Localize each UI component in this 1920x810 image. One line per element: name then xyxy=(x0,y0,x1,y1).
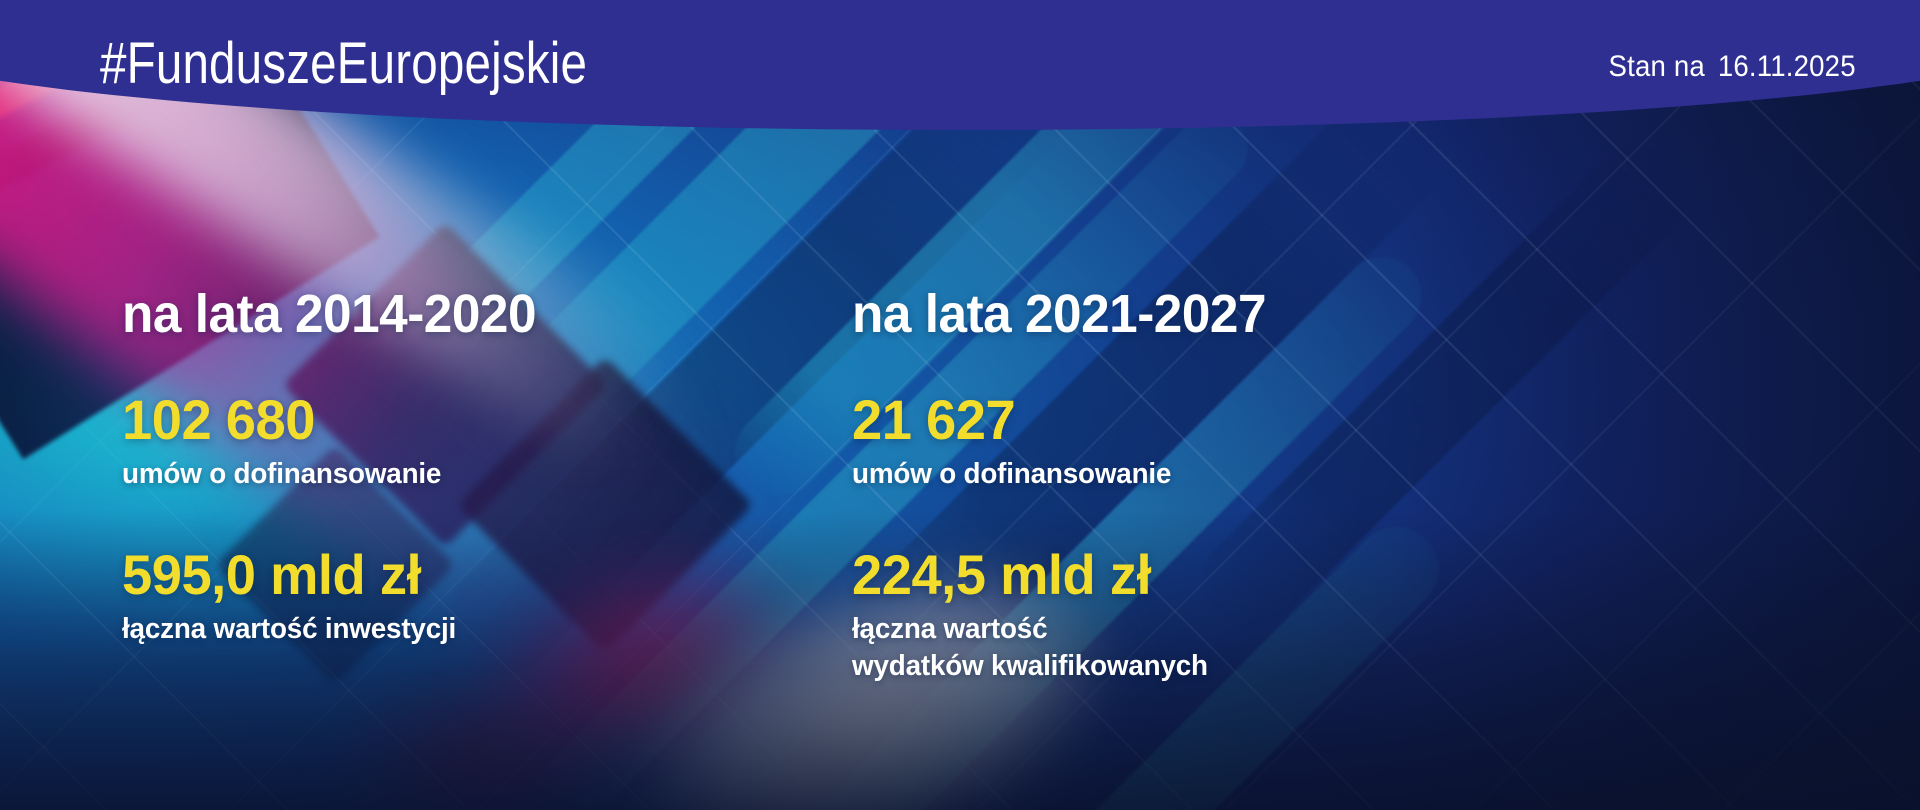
metric-label: umów o dofinansowanie xyxy=(852,456,1466,493)
metric-contracts: 102 680 umów o dofinansowanie xyxy=(122,391,742,493)
metric-label-line: łączna wartość xyxy=(852,611,1466,648)
metric-value: 102 680 xyxy=(122,391,723,448)
metric-label-line: umów o dofinansowanie xyxy=(852,456,1466,493)
status-label: Stan na xyxy=(1609,50,1705,83)
metric-eligible-expenditure: 224,5 mld zł łączna wartość wydatków kwa… xyxy=(852,546,1492,684)
stats-column-2014-2020: na lata 2014-2020 102 680 umów o dofinan… xyxy=(122,286,742,648)
metric-label-line: umów o dofinansowanie xyxy=(122,456,717,493)
status-date-group: Stan na16.11.2025 xyxy=(1609,50,1856,84)
metric-label-line: łączna wartość inwestycji xyxy=(122,611,717,648)
metric-label: umów o dofinansowanie xyxy=(122,456,717,493)
metric-value-investments: 595,0 mld zł łączna wartość inwestycji xyxy=(122,546,742,648)
infographic-banner: #FunduszeEuropejskie Stan na16.11.2025 n… xyxy=(0,0,1920,810)
metric-label: łączna wartość wydatków kwalifikowanych xyxy=(852,611,1466,684)
metric-value: 224,5 mld zł xyxy=(852,546,1473,603)
header-bar: #FunduszeEuropejskie Stan na16.11.2025 xyxy=(0,0,1920,180)
metric-value: 21 627 xyxy=(852,391,1473,448)
stats-column-2021-2027: na lata 2021-2027 21 627 umów o dofinans… xyxy=(852,286,1492,685)
brand-hashtag: #FunduszeEuropejskie xyxy=(100,34,587,95)
status-date: 16.11.2025 xyxy=(1718,50,1856,83)
metric-value: 595,0 mld zł xyxy=(122,546,723,603)
metric-label-line: wydatków kwalifikowanych xyxy=(852,648,1466,685)
metric-label: łączna wartość inwestycji xyxy=(122,611,717,648)
column-title: na lata 2021-2027 xyxy=(852,286,1460,343)
column-title: na lata 2014-2020 xyxy=(122,286,711,343)
metric-contracts: 21 627 umów o dofinansowanie xyxy=(852,391,1492,493)
